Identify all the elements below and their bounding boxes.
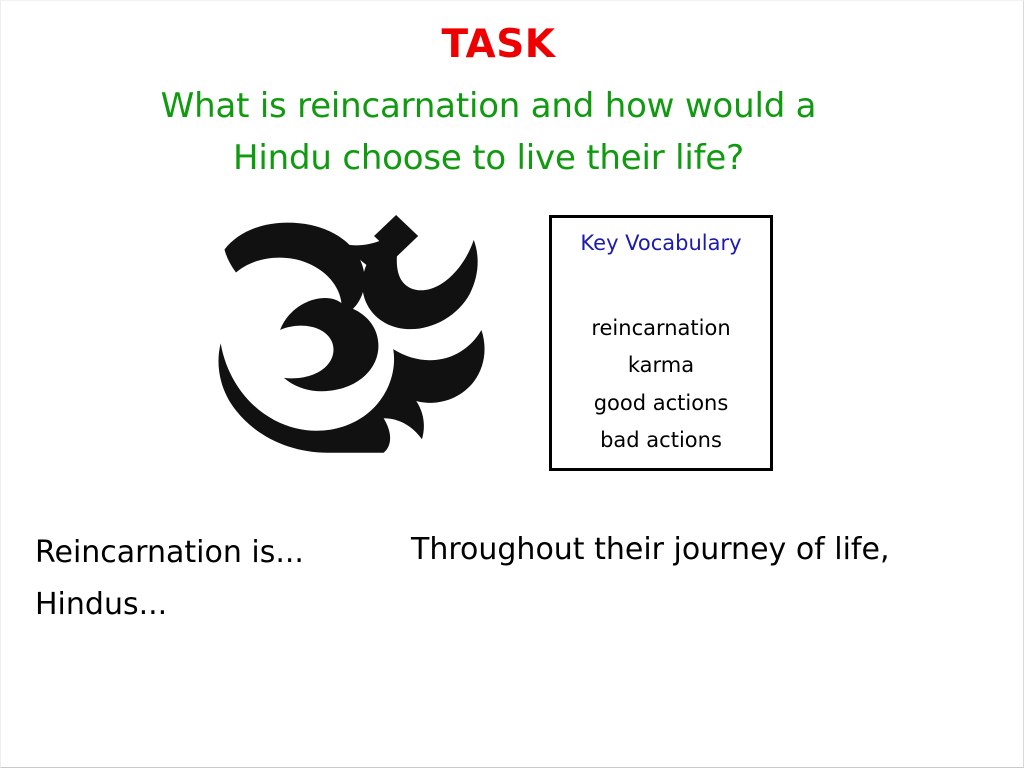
key-vocabulary-box: Key Vocabulary reincarnation karma good … xyxy=(549,215,773,471)
page-title: TASK xyxy=(1,25,996,64)
question-line-1: What is reincarnation and how would a xyxy=(1,81,976,133)
sentence-starter-left-line-1: Reincarnation is... xyxy=(35,527,395,579)
question-line-2: Hindu choose to live their life? xyxy=(1,133,976,185)
question-text: What is reincarnation and how would a Hi… xyxy=(1,81,976,184)
vocab-heading: Key Vocabulary xyxy=(552,232,770,255)
list-item: reincarnation xyxy=(552,310,770,347)
list-item: karma xyxy=(552,347,770,384)
list-item: bad actions xyxy=(552,422,770,459)
sentence-starter-left-line-2: Hindus... xyxy=(35,579,395,631)
slide-canvas: TASK What is reincarnation and how would… xyxy=(0,0,1024,768)
sentence-starter-left: Reincarnation is... Hindus... xyxy=(35,527,395,630)
om-symbol-icon xyxy=(213,207,491,453)
sentence-starter-right: Throughout their journey of life, xyxy=(411,532,1011,568)
list-item: good actions xyxy=(552,385,770,422)
vocab-list: reincarnation karma good actions bad act… xyxy=(552,310,770,460)
